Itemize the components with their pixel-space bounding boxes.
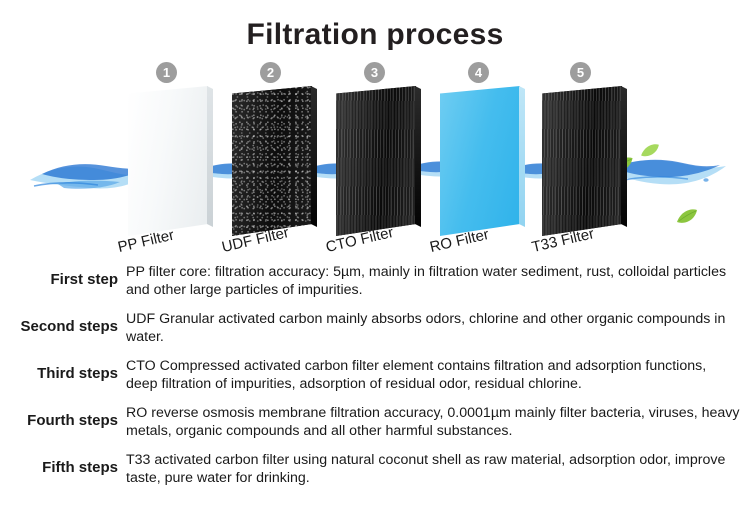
filter-panel-t33	[542, 86, 622, 236]
filter-item-cto: 3 CTO Filter	[326, 58, 446, 258]
filtration-diagram: 1 PP Filter 2 UDF Filter 3 CTO Filter 4 …	[0, 58, 750, 258]
filter-side-edge	[207, 86, 213, 236]
filter-badge-3: 3	[364, 62, 385, 83]
filter-badge-4: 4	[468, 62, 489, 83]
filter-panel-pp	[128, 86, 208, 236]
filter-panel-ro	[440, 86, 520, 236]
page-title: Filtration process	[0, 18, 750, 52]
step-label: Second steps	[0, 311, 118, 335]
step-description: T33 activated carbon filter using natura…	[118, 452, 750, 487]
filter-surface	[542, 86, 622, 236]
filter-badge-2: 2	[260, 62, 281, 83]
filter-panel-udf	[232, 86, 312, 236]
filter-surface	[232, 86, 312, 236]
step-description: PP filter core: filtration accuracy: 5µm…	[118, 264, 750, 299]
step-label: First step	[0, 264, 118, 288]
leaf-icon	[676, 208, 698, 226]
steps-list: First step PP filter core: filtration ac…	[0, 264, 750, 499]
step-row: Fifth steps T33 activated carbon filter …	[0, 452, 750, 487]
filter-side-edge	[311, 86, 317, 236]
filter-side-edge	[519, 86, 525, 236]
filter-item-udf: 2 UDF Filter	[222, 58, 342, 258]
step-description: UDF Granular activated carbon mainly abs…	[118, 311, 750, 346]
filter-panel-cto	[336, 86, 416, 236]
step-description: CTO Compressed activated carbon filter e…	[118, 358, 750, 393]
step-row: Fourth steps RO reverse osmosis membrane…	[0, 405, 750, 440]
filter-item-t33: 5 T33 Filter	[532, 58, 652, 258]
filter-surface	[336, 86, 416, 236]
step-label: Fourth steps	[0, 405, 118, 429]
filter-badge-5: 5	[570, 62, 591, 83]
filter-badge-1: 1	[156, 62, 177, 83]
step-label: Third steps	[0, 358, 118, 382]
filter-surface	[128, 86, 208, 236]
step-description: RO reverse osmosis membrane filtration a…	[118, 405, 750, 440]
step-label: Fifth steps	[0, 452, 118, 476]
step-row: First step PP filter core: filtration ac…	[0, 264, 750, 299]
filter-side-edge	[415, 86, 421, 236]
step-row: Third steps CTO Compressed activated car…	[0, 358, 750, 393]
filter-surface	[440, 86, 520, 236]
filter-side-edge	[621, 86, 627, 236]
filter-item-pp: 1 PP Filter	[118, 58, 238, 258]
step-row: Second steps UDF Granular activated carb…	[0, 311, 750, 346]
